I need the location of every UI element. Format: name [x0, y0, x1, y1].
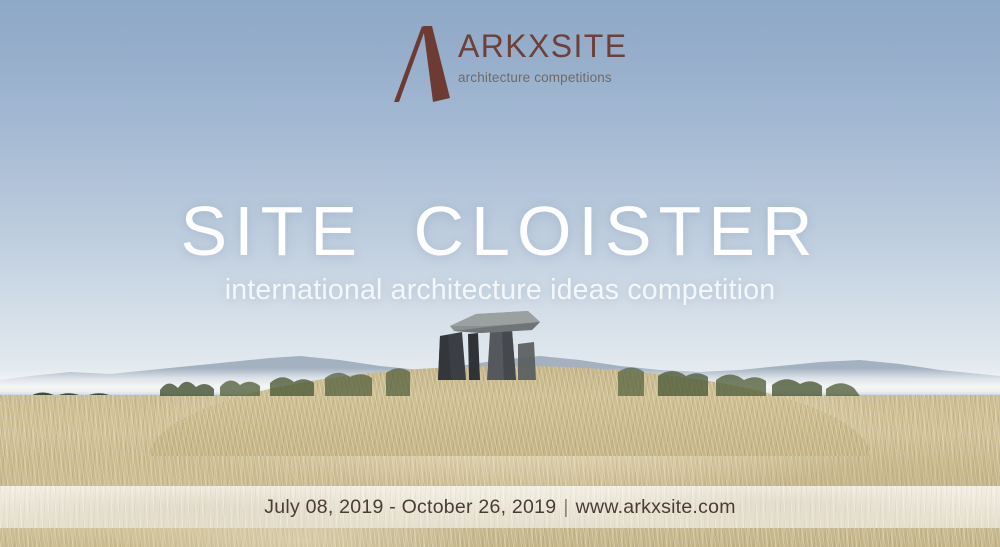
competition-date-range: July 08, 2019 - October 26, 2019	[264, 496, 556, 518]
dolmen-megalith	[424, 306, 564, 386]
logo-wordmark: ARKXSITE	[458, 30, 627, 62]
footer-bar: July 08, 2019 - October 26, 2019|www.ark…	[0, 486, 1000, 528]
competition-subtitle: international architecture ideas competi…	[0, 276, 1000, 305]
competition-title: SITE CLOISTER	[0, 196, 1000, 266]
logo-text-block: ARKXSITE architecture competitions	[458, 24, 627, 85]
website-link[interactable]: www.arkxsite.com	[576, 496, 736, 518]
arkxsite-logo[interactable]: ARKXSITE architecture competitions	[392, 24, 622, 108]
logo-tagline: architecture competitions	[458, 71, 627, 85]
title-word-site: SITE	[180, 192, 364, 270]
footer-text-line: July 08, 2019 - October 26, 2019|www.ark…	[264, 496, 735, 519]
footer-separator: |	[556, 496, 575, 518]
title-word-gap	[364, 192, 413, 270]
arkxsite-a-mark-icon	[392, 24, 454, 106]
title-word-cloister: CLOISTER	[413, 192, 819, 270]
poster-root: ARKXSITE architecture competitions SITE …	[0, 0, 1000, 547]
